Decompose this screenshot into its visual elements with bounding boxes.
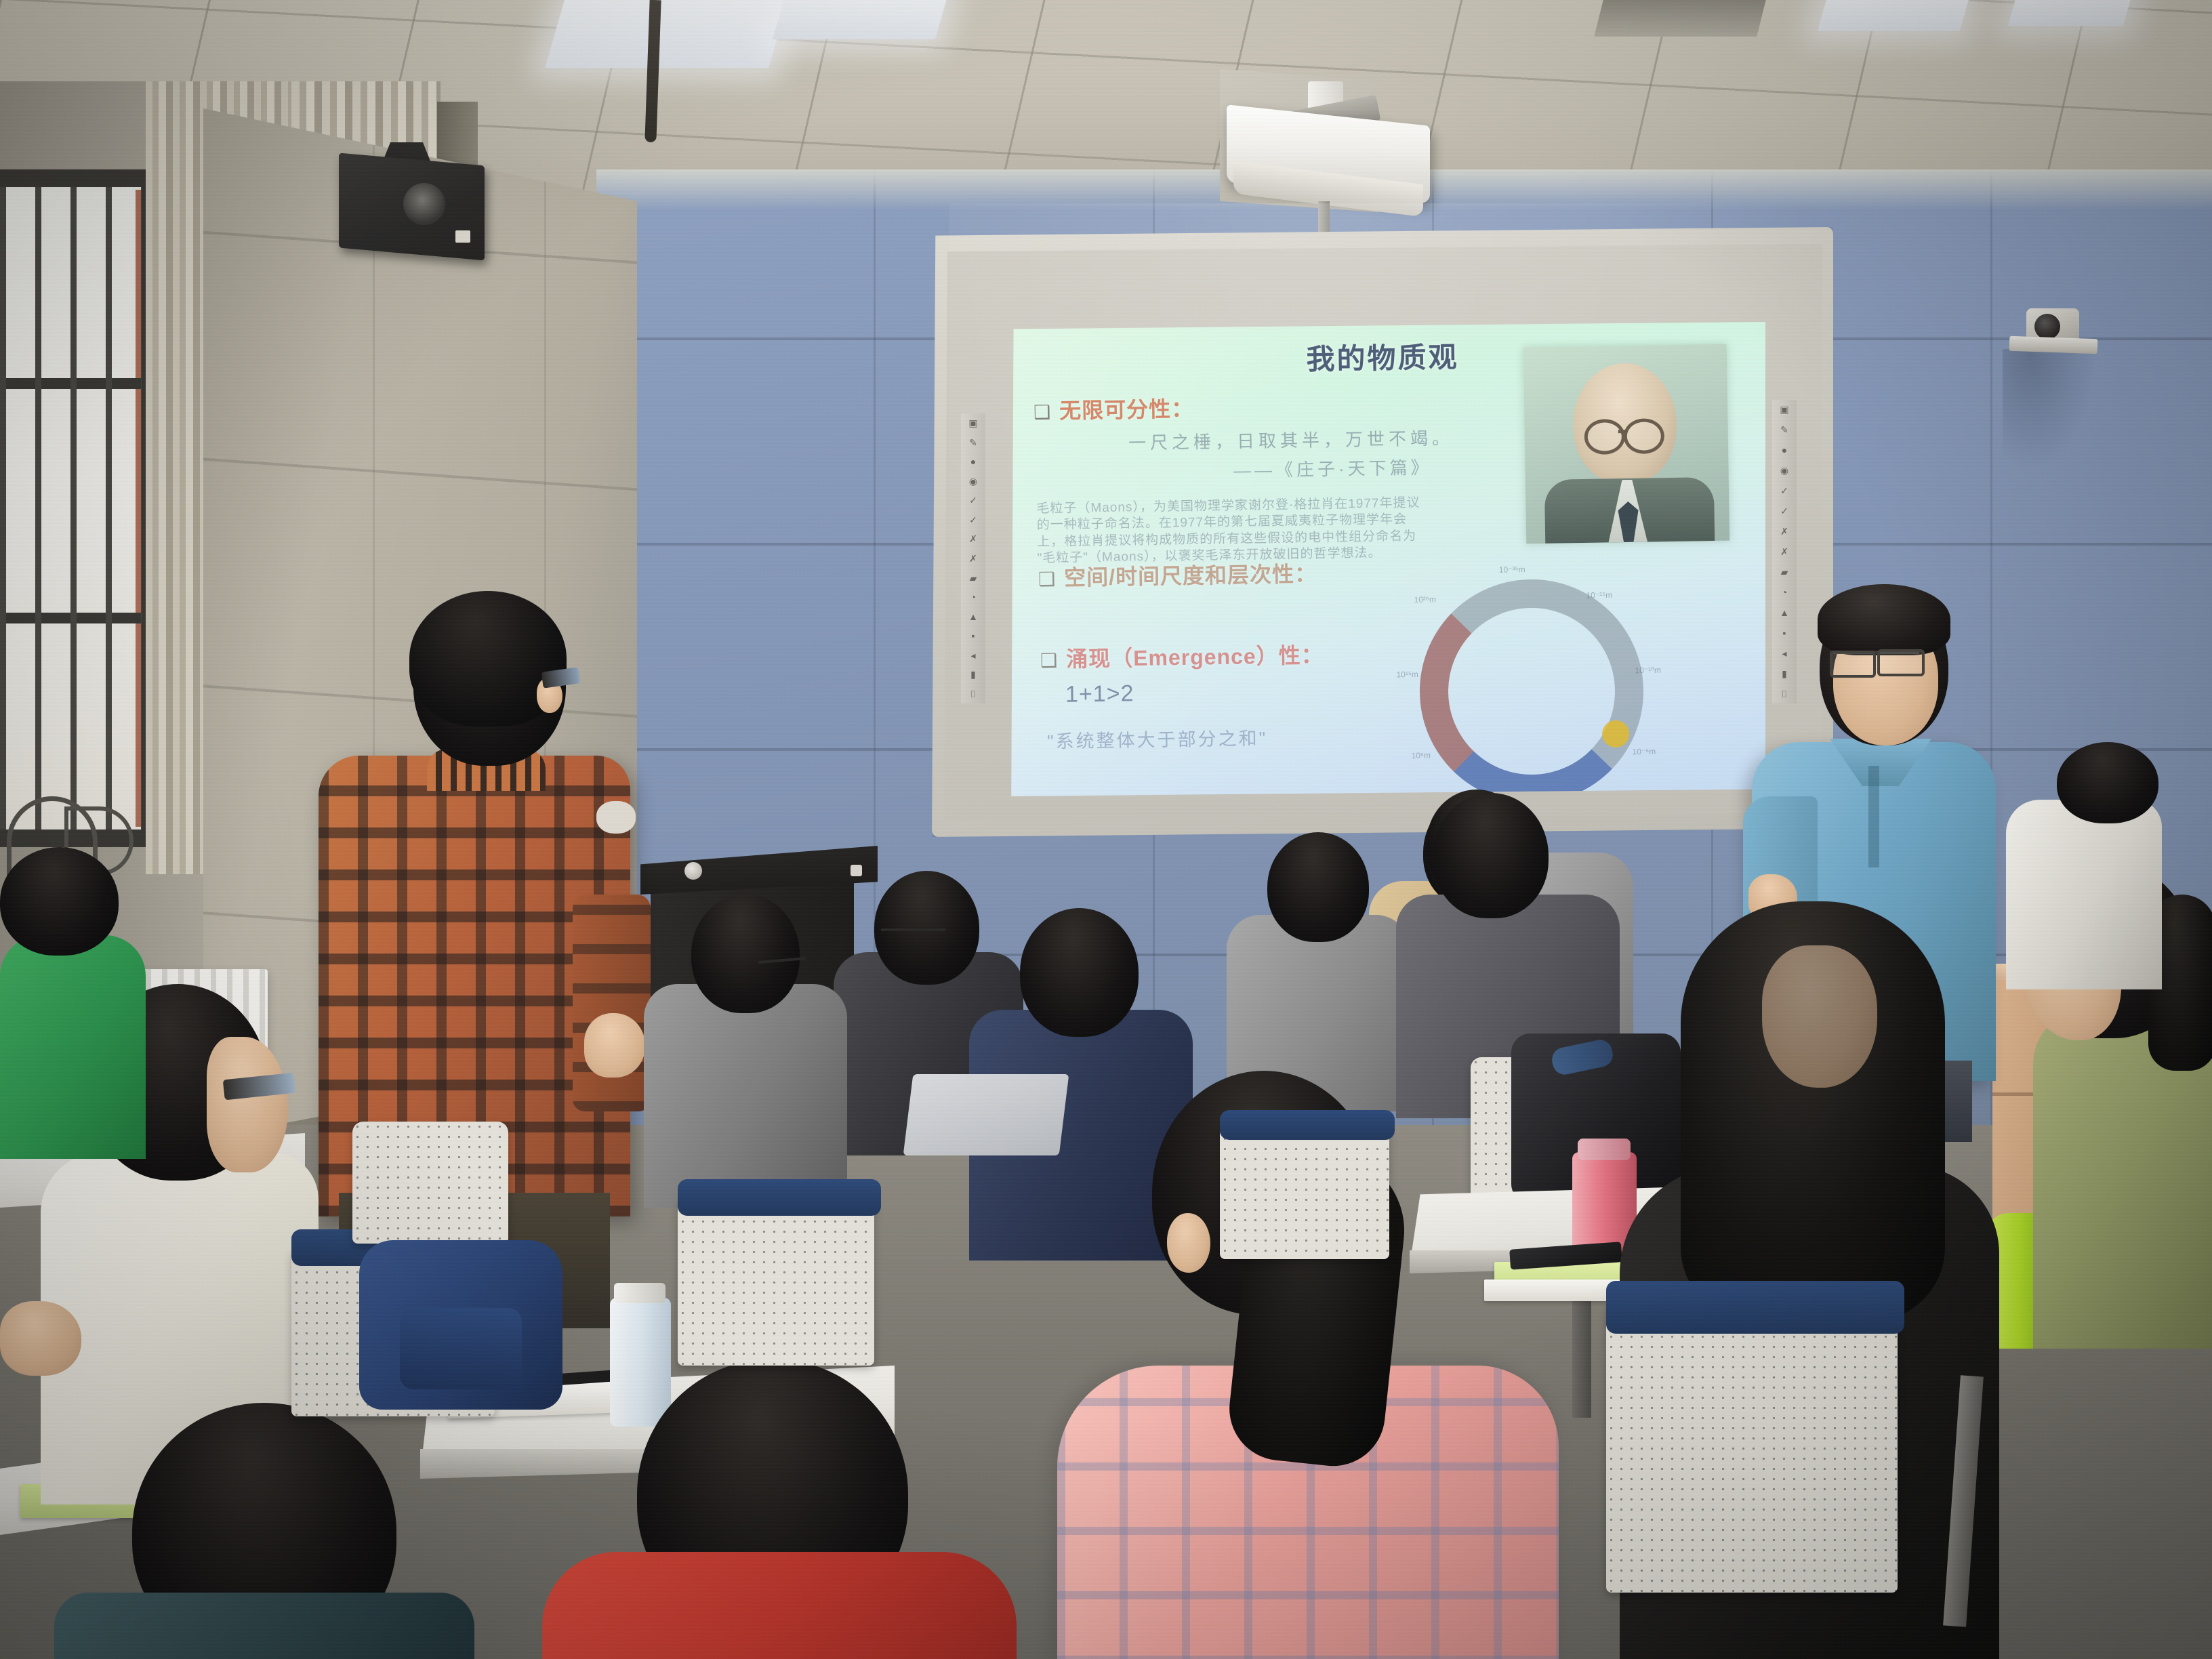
whiteboard-tool-icon[interactable]: ▪ bbox=[1778, 626, 1791, 640]
ring-label: 10⁶m bbox=[1412, 751, 1431, 760]
student-torso bbox=[54, 1593, 474, 1659]
ring-label: 10¹⁵m bbox=[1396, 670, 1418, 680]
student-head bbox=[1433, 793, 1549, 918]
ceiling-light-panel bbox=[545, 0, 790, 68]
slide-bullet-3: ❑涌现（Emergence）性： bbox=[1040, 638, 1324, 674]
whiteboard-tool-icon[interactable]: ✗ bbox=[1778, 545, 1791, 558]
speaker-led-icon bbox=[455, 230, 470, 243]
whiteboard-tool-icon[interactable]: ✎ bbox=[1778, 423, 1791, 436]
chair-cushion bbox=[1220, 1110, 1395, 1140]
student-torso bbox=[2006, 800, 2162, 989]
slide-ring-diagram: 10⁻³⁵m 10⁻¹⁵m 10⁻¹⁰m 10⁻⁶m 10⁰m 10⁶m 10¹… bbox=[1418, 577, 1645, 796]
whiteboard-tool-icon[interactable]: ▮ bbox=[966, 668, 980, 681]
whiteboard-tool-icon[interactable]: ▪ bbox=[966, 629, 980, 642]
chair-back[interactable] bbox=[352, 1122, 508, 1244]
camera-shadow bbox=[2003, 349, 2094, 468]
student-head bbox=[0, 847, 119, 956]
speaker-cone-icon bbox=[403, 183, 445, 225]
student-head bbox=[1267, 832, 1369, 942]
student-head bbox=[874, 871, 979, 985]
whiteboard-tool-icon[interactable]: ◔ bbox=[966, 590, 980, 604]
lectern-indicator bbox=[851, 865, 862, 876]
standing-attendee-arm bbox=[573, 895, 651, 1111]
portrait-head bbox=[1572, 363, 1677, 485]
whiteboard-tool-icon[interactable]: ◂ bbox=[1778, 647, 1791, 660]
student-torso bbox=[542, 1552, 1017, 1659]
whiteboard-tool-icon[interactable]: ▲ bbox=[1778, 606, 1791, 619]
ceiling-light-panel bbox=[2008, 0, 2133, 26]
presenter-hair bbox=[1818, 584, 1950, 655]
slide-paragraph: 毛粒子（Maons），为美国物理学家谢尔登·格拉肖在1977年提议的一种粒子命名… bbox=[1036, 495, 1423, 567]
whiteboard-tool-icon[interactable]: ⌷ bbox=[966, 687, 980, 701]
chair-back[interactable] bbox=[1606, 1301, 1898, 1593]
whiteboard-tool-icon[interactable]: ▣ bbox=[966, 416, 980, 430]
standing-attendee-shoulder-patch bbox=[596, 801, 636, 834]
whiteboard-tool-icon[interactable]: ▲ bbox=[966, 610, 980, 623]
bullet-box-icon: ❑ bbox=[1033, 401, 1052, 422]
presenter-glasses-lens bbox=[1877, 649, 1925, 676]
slide-quote-line-1: 一尺之棰，日取其半，万世不竭。 bbox=[1128, 424, 1454, 455]
slide-bullet-2-colon: ： bbox=[1294, 562, 1317, 587]
student-torso bbox=[0, 935, 146, 1159]
whiteboard-toolbar-right[interactable]: ▣ ✎ ● ◉ ✓ ✓ ✗ ✗ ▰ ◔ ▲ ▪ ◂ ▮ ⌷ bbox=[1772, 400, 1797, 703]
student-head bbox=[691, 895, 800, 1013]
ceiling-vent bbox=[1594, 0, 1767, 37]
student-face bbox=[1762, 945, 1877, 1088]
student-head bbox=[2057, 742, 2158, 823]
whiteboard-tool-icon[interactable]: ◉ bbox=[1778, 464, 1791, 477]
slide-quote-line-2: ——《庄子·天下篇》 bbox=[1233, 454, 1432, 483]
chair-back[interactable] bbox=[1220, 1124, 1389, 1259]
whiteboard-tool-icon[interactable]: ▮ bbox=[1778, 667, 1791, 680]
slide-bullet-2-text: 空间/时间尺度和层次性 bbox=[1064, 562, 1294, 590]
whiteboard-tool-icon[interactable]: ✓ bbox=[1778, 484, 1791, 497]
whiteboard-tool-icon[interactable]: ▰ bbox=[966, 571, 980, 585]
student-head bbox=[1020, 908, 1139, 1037]
student-glasses-icon bbox=[881, 928, 945, 945]
whiteboard-tool-icon[interactable]: ✎ bbox=[966, 436, 980, 449]
whiteboard-tool-icon[interactable]: ● bbox=[1778, 443, 1791, 457]
presenter-placket bbox=[1868, 766, 1879, 867]
slide-bullet-1: ❑无限可分性： bbox=[1033, 392, 1194, 426]
ceiling-light-panel bbox=[773, 0, 949, 39]
whiteboard-tool-icon[interactable]: ● bbox=[966, 455, 980, 468]
classroom-photo: 10⁻³⁵m 10⁻¹⁵m 10⁻¹⁰m 10⁻⁶m 10⁰m 10⁶m 10¹… bbox=[0, 0, 2212, 1659]
whiteboard-tool-icon[interactable]: ◂ bbox=[966, 649, 980, 662]
whiteboard-tool-icon[interactable]: ✓ bbox=[1778, 504, 1791, 518]
slide-bullet-1-text: 无限可分性 bbox=[1059, 397, 1172, 424]
standing-attendee-hand bbox=[584, 1013, 645, 1078]
whiteboard-tool-icon[interactable]: ◔ bbox=[1778, 586, 1791, 599]
ring-label: 10⁻¹⁵m bbox=[1586, 590, 1612, 600]
presenter-glasses-lens bbox=[1830, 651, 1876, 678]
slide-bullet-1-colon: ： bbox=[1171, 396, 1194, 422]
slide-bullet-3-colon: ： bbox=[1300, 643, 1324, 668]
whiteboard-tool-icon[interactable]: ✓ bbox=[966, 513, 980, 527]
bottle-cap bbox=[1578, 1139, 1631, 1160]
bullet-box-icon: ❑ bbox=[1038, 569, 1057, 590]
portrait-glasses-bridge bbox=[1618, 430, 1625, 433]
chair-cushion bbox=[1606, 1281, 1904, 1334]
whiteboard-tool-icon[interactable]: ▣ bbox=[1778, 403, 1791, 416]
whiteboard-tool-icon[interactable]: ✗ bbox=[966, 552, 980, 565]
whiteboard-tool-icon[interactable]: ⌷ bbox=[1778, 687, 1791, 701]
ceiling-light-panel bbox=[1818, 0, 1971, 31]
ring-segment-red bbox=[1418, 577, 1645, 796]
bullet-box-icon: ❑ bbox=[1040, 650, 1059, 671]
window-frame bbox=[0, 169, 159, 847]
whiteboard-tool-icon[interactable]: ✗ bbox=[1778, 525, 1791, 538]
water-bottle-clear[interactable] bbox=[610, 1298, 671, 1427]
chair-cushion bbox=[678, 1179, 881, 1216]
ring-label: 10²⁶m bbox=[1414, 594, 1436, 605]
whiteboard-toolbar-left[interactable]: ▣ ✎ ● ◉ ✓ ✓ ✗ ✗ ▰ ◔ ▲ ▪ ◂ ▮ ⌷ bbox=[961, 413, 985, 703]
student-hand bbox=[0, 1301, 81, 1376]
whiteboard-tool-icon[interactable]: ▰ bbox=[1778, 565, 1791, 579]
slide-bullet-3-text: 涌现（Emergence）性 bbox=[1066, 643, 1301, 671]
ring-label: 10⁻³⁵m bbox=[1499, 565, 1525, 575]
student-torso bbox=[644, 984, 847, 1208]
slide-bullet-2: ❑空间/时间尺度和层次性： bbox=[1038, 557, 1317, 592]
camera-lens-icon bbox=[2034, 314, 2060, 340]
whiteboard-tool-icon[interactable]: ✗ bbox=[966, 532, 980, 546]
backpack-pocket bbox=[400, 1308, 522, 1389]
student-ear bbox=[1167, 1213, 1210, 1273]
chair-back[interactable] bbox=[678, 1196, 874, 1366]
camera-wall-bracket bbox=[2009, 336, 2098, 354]
whiteboard-tool-icon[interactable]: ✓ bbox=[966, 493, 980, 507]
slide-title: 我的物质观 bbox=[1193, 333, 1573, 380]
slide-equation: 1+1>2 bbox=[1065, 680, 1134, 708]
bottle-cap-white bbox=[614, 1283, 665, 1303]
slide-emergence-quote: "系统整体大于部分之和" bbox=[1047, 723, 1268, 753]
ring-label: 10⁻⁶m bbox=[1632, 747, 1656, 757]
whiteboard-tool-icon[interactable]: ◉ bbox=[966, 474, 980, 488]
laptop-silver bbox=[903, 1074, 1069, 1155]
ring-label: 10⁻¹⁰m bbox=[1635, 665, 1661, 676]
lectern-button[interactable] bbox=[684, 862, 702, 880]
